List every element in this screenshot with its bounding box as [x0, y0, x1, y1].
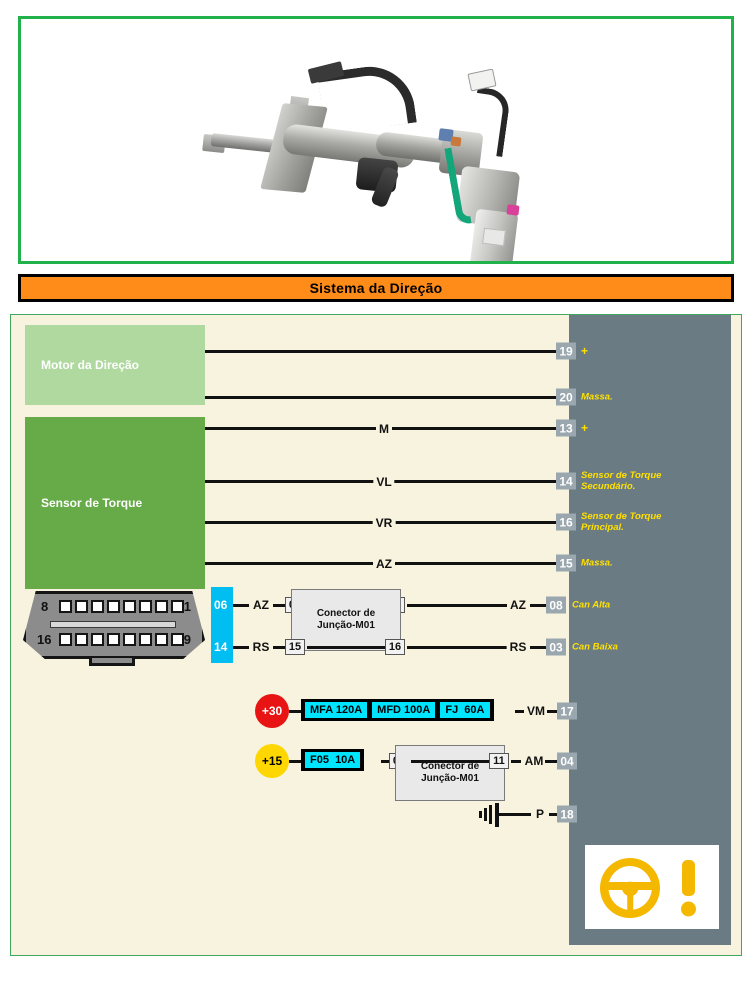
- ecu-pin-08-desc: Can Alta: [572, 600, 610, 611]
- page-title-bar: Sistema da Direção: [18, 274, 734, 302]
- fuse-mfa-120a[interactable]: MFA 120A: [305, 702, 367, 718]
- wire-junction-to-am: [511, 760, 521, 763]
- fuse-f05-10a[interactable]: F05 10A: [305, 752, 360, 768]
- module-label: Sensor de Torque: [41, 496, 142, 510]
- module-label: Motor da Direção: [41, 358, 139, 372]
- wire-inside-junction: [411, 760, 491, 763]
- wire-label-m: M: [376, 422, 392, 436]
- white-connector-part: [467, 68, 496, 91]
- obd-pin-row-top: [59, 600, 184, 613]
- ecu-pin-20: 20: [556, 389, 576, 406]
- ecu-pin-19: 19: [556, 343, 576, 360]
- obd-center-bar: [50, 621, 176, 628]
- ecu-pin-03-desc: Can Baixa: [572, 642, 618, 653]
- wire-label-am: AM: [522, 754, 547, 768]
- motor-label-part: [482, 228, 506, 247]
- pink-connector-part: [506, 204, 519, 215]
- junction-pin-11: 11: [489, 753, 509, 769]
- wiring-diagram-panel: Motor da Direção Sensor de Torque 19 + 2…: [10, 314, 742, 956]
- steering-column-photo: [21, 19, 731, 261]
- ecu-pin-08: 08: [546, 597, 566, 614]
- ecu-pin-18: 18: [557, 806, 577, 823]
- module-sensor-de-torque: Sensor de Torque: [25, 417, 205, 589]
- ecu-pin-13: 13: [556, 420, 576, 437]
- ecu-pin-19-desc: +: [581, 344, 588, 358]
- ecu-pin-04: 04: [557, 753, 577, 770]
- wire-junction-can-lo: [307, 646, 391, 649]
- fuse-chain-30: MFA 120A MFD 100A FJ 60A: [301, 699, 494, 721]
- wire-ground-seg1: [499, 813, 531, 816]
- obd-pin-num-8: 8: [41, 599, 48, 614]
- ecu-pin-15-desc: Massa.: [581, 558, 613, 569]
- junction-pin-16: 16: [385, 639, 405, 655]
- wire-label-rs-out: RS: [507, 640, 530, 654]
- wire-obd-rs-seg1: [233, 646, 249, 649]
- page-title: Sistema da Direção: [310, 280, 443, 296]
- obd-pin-14: 14: [214, 640, 227, 654]
- wire-label-p: P: [533, 807, 547, 821]
- obd-bottom-notch: [89, 658, 135, 666]
- wire-motor-20: [205, 396, 560, 399]
- wire-motor-19: [205, 350, 560, 353]
- wire-label-az-can-hi: AZ: [250, 598, 272, 612]
- wire-ecu-rs-can-lo: [407, 646, 523, 649]
- obd-pin-num-16: 16: [37, 632, 51, 647]
- fuse-chain-15: F05 10A: [301, 749, 364, 771]
- wire-ecu-az-can-hi: [407, 604, 523, 607]
- eps-wiring-diagram-page: Sistema da Direção Motor da Direção Sens…: [0, 0, 752, 988]
- obd-pin-row-bottom: [59, 633, 184, 646]
- ecu-pin-03: 03: [546, 639, 566, 656]
- wire-label-vm: VM: [524, 704, 548, 718]
- wire-label-vl: VL: [373, 475, 394, 489]
- ecu-pin-14: 14: [556, 473, 576, 490]
- obd-pin-num-1: 1: [184, 599, 191, 614]
- orange-connector-part: [450, 136, 461, 146]
- wire-label-vr: VR: [373, 516, 396, 530]
- ecu-pin-20-desc: Massa.: [581, 392, 613, 403]
- ecu-pin-16-desc: Sensor de Torque Principal.: [581, 511, 661, 533]
- eps-warning-lamp-box: [579, 839, 725, 935]
- power-source-30: +30: [255, 694, 289, 728]
- wire-obd-az-seg1: [233, 604, 249, 607]
- ecu-pin-13-desc: +: [581, 421, 588, 435]
- steering-column-photo-panel: [18, 16, 734, 264]
- ecu-pin-16: 16: [556, 514, 576, 531]
- black-wire-part: [469, 87, 512, 157]
- obd-pin-06: 06: [214, 598, 227, 612]
- wire-label-rs-can-lo: RS: [250, 640, 273, 654]
- wire-label-az: AZ: [373, 557, 395, 571]
- fuse-mfd-100a[interactable]: MFD 100A: [372, 702, 435, 718]
- ecu-pin-14-desc: Sensor de Torque Secundário.: [581, 470, 661, 492]
- eps-steering-warning-lamp-icon: [596, 856, 708, 918]
- module-motor-da-direcao: Motor da Direção: [25, 325, 205, 405]
- obd-ii-diagnostic-connector[interactable]: 8 1 16 9: [23, 591, 205, 659]
- power-source-15: +15: [255, 744, 289, 778]
- fuse-fj-60a[interactable]: FJ 60A: [440, 702, 489, 718]
- wire-label-az-out: AZ: [507, 598, 529, 612]
- obd-pin-num-9: 9: [184, 632, 191, 647]
- ecu-pin-17: 17: [557, 703, 577, 720]
- ecu-pin-15: 15: [556, 555, 576, 572]
- junction-pin-15: 15: [285, 639, 305, 655]
